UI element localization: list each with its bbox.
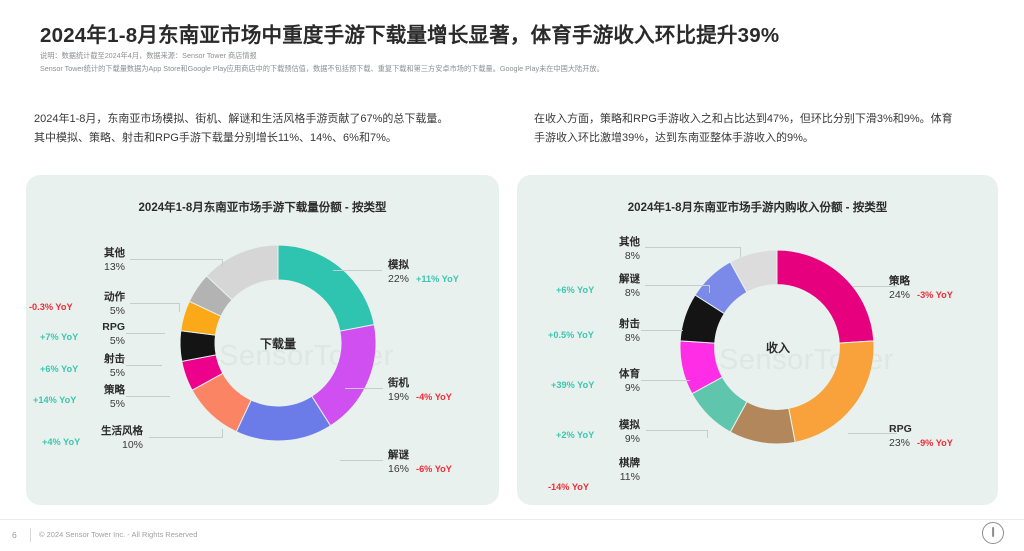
leader-line xyxy=(340,460,383,461)
callout-pct: 11% xyxy=(620,471,640,483)
summary-line: 2024年1-8月，东南亚市场模拟、街机、解谜和生活风格手游贡献了67%的总下载… xyxy=(34,110,504,129)
leader-line xyxy=(707,430,708,438)
callout-pct: 9% xyxy=(625,433,640,445)
callout-pct: 5% xyxy=(110,335,125,347)
donut-segment-解谜[interactable] xyxy=(236,396,330,441)
callout-yoy: +6% YoY xyxy=(556,285,594,295)
callout-name: 射击 xyxy=(570,317,640,331)
source-note-line: 说明：数据统计截至2024年4月，数据来源：Sensor Tower 商店情报 xyxy=(40,50,990,63)
callout-yoy: -14% YoY xyxy=(548,482,589,492)
page-number: 6 xyxy=(12,530,17,540)
callout-yoy: -3% YoY xyxy=(917,290,953,300)
callout-yoy: +11% YoY xyxy=(416,274,459,284)
callout-pct: 10% xyxy=(122,439,143,451)
copyright-text: © 2024 Sensor Tower Inc. - All Rights Re… xyxy=(39,530,197,539)
callout-pct: 8% xyxy=(625,250,640,262)
callout-name: RPG xyxy=(889,422,1004,436)
donut-segment-策略[interactable] xyxy=(777,250,874,343)
callout-pct: 5% xyxy=(110,367,125,379)
sensortower-logo-icon xyxy=(982,522,1006,546)
leader-line xyxy=(646,430,708,431)
leader-line xyxy=(130,259,223,260)
callout-pct: 22% xyxy=(388,273,409,285)
callout-name: 解谜 xyxy=(388,448,498,462)
footer-divider xyxy=(0,519,1024,520)
callout-pct: 8% xyxy=(625,332,640,344)
donut-segment-RPG[interactable] xyxy=(789,341,874,442)
callout-name: 解谜 xyxy=(570,272,640,286)
callout-board-revenue: 棋牌 11% xyxy=(570,456,640,484)
callout-yoy: -4% YoY xyxy=(416,392,452,402)
callout-name: 棋牌 xyxy=(570,456,640,470)
callout-yoy: -6% YoY xyxy=(416,464,452,474)
leader-line xyxy=(645,285,710,286)
leader-line xyxy=(641,330,683,331)
footer-separator xyxy=(30,528,31,542)
leader-line xyxy=(333,270,382,271)
summary-text-revenue: 在收入方面，策略和RPG手游收入之和占比达到47%，但环比分别下滑3%和9%。体… xyxy=(534,110,1004,148)
callout-rpg-revenue: RPG 23%-9% YoY xyxy=(889,422,1004,450)
chart-title-revenue: 2024年1-8月东南亚市场手游内购收入份额 - 按类型 xyxy=(517,199,998,215)
callout-name: 其他 xyxy=(570,235,640,249)
leader-line xyxy=(130,303,180,304)
callout-pct: 24% xyxy=(889,289,910,301)
callout-pct: 13% xyxy=(104,261,125,273)
leader-line xyxy=(345,388,383,389)
callout-yoy: +0.5% YoY xyxy=(548,330,594,340)
callout-pct: 23% xyxy=(889,437,910,449)
callout-name: 策略 xyxy=(889,274,1004,288)
summary-line: 在收入方面，策略和RPG手游收入之和占比达到47%，但环比分别下滑3%和9%。体… xyxy=(534,110,1004,129)
callout-pct: 9% xyxy=(625,382,640,394)
summary-text-downloads: 2024年1-8月，东南亚市场模拟、街机、解谜和生活风格手游贡献了67%的总下载… xyxy=(34,110,504,148)
callout-simulation-downloads: 模拟 22%+11% YoY xyxy=(388,258,498,286)
leader-line xyxy=(222,429,223,438)
callout-pct: 16% xyxy=(388,463,409,475)
callout-pct: 5% xyxy=(110,305,125,317)
source-note-line: Sensor Tower统计的下载量数据为App Store和Google Pl… xyxy=(40,63,990,76)
callout-yoy: +6% YoY xyxy=(40,364,78,374)
callout-pct: 19% xyxy=(388,391,409,403)
callout-strategy-revenue: 策略 24%-3% YoY xyxy=(889,274,1004,302)
leader-line xyxy=(222,259,223,267)
callout-yoy: +2% YoY xyxy=(556,430,594,440)
donut-svg-revenue xyxy=(678,248,876,446)
leader-line xyxy=(126,365,162,366)
leader-line xyxy=(126,333,165,334)
summary-line: 手游收入环比激增39%，达到东南亚整体手游收入的9%。 xyxy=(534,129,1004,148)
callout-arcade-downloads: 街机 19%-4% YoY xyxy=(388,376,498,404)
callout-other-downloads: 其他 13% xyxy=(55,246,125,274)
callout-other-revenue: 其他 8% xyxy=(570,235,640,263)
leader-line xyxy=(740,247,741,257)
leader-line xyxy=(126,396,170,397)
callout-name: 模拟 xyxy=(388,258,498,272)
callout-yoy: +39% YoY xyxy=(551,380,594,390)
donut-chart-downloads: 下载量 xyxy=(178,243,378,491)
callout-yoy: -9% YoY xyxy=(917,438,953,448)
callout-name: 街机 xyxy=(388,376,498,390)
leader-line xyxy=(641,380,690,381)
page-title: 2024年1-8月东南亚市场中重度手游下载量增长显著，体育手游收入环比提升39% xyxy=(40,18,990,48)
slide-root: 2024年1-8月东南亚市场中重度手游下载量增长显著，体育手游收入环比提升39%… xyxy=(0,0,1024,551)
donut-svg-downloads xyxy=(178,243,378,443)
source-notes: 说明：数据统计截至2024年4月，数据来源：Sensor Tower 商店情报 … xyxy=(40,50,990,75)
callout-name: 生活风格 xyxy=(47,424,143,438)
callout-puzzle-downloads: 解谜 16%-6% YoY xyxy=(388,448,498,476)
leader-line xyxy=(179,303,180,312)
leader-line xyxy=(149,437,223,438)
leader-line xyxy=(645,247,741,248)
callout-yoy: +4% YoY xyxy=(42,437,80,447)
leader-line xyxy=(709,285,710,293)
callout-name: 其他 xyxy=(55,246,125,260)
callout-yoy: -0.3% YoY xyxy=(29,302,73,312)
callout-pct: 8% xyxy=(625,287,640,299)
callout-name: 体育 xyxy=(570,367,640,381)
summary-line: 其中模拟、策略、射击和RPG手游下载量分别增长11%、14%、6%和7%。 xyxy=(34,129,504,148)
callout-yoy: +14% YoY xyxy=(33,395,76,405)
callout-yoy: +7% YoY xyxy=(40,332,78,342)
chart-title-downloads: 2024年1-8月东南亚市场手游下载量份额 - 按类型 xyxy=(26,199,499,215)
callout-pct: 5% xyxy=(110,398,125,410)
donut-segment-模拟[interactable] xyxy=(278,245,374,331)
